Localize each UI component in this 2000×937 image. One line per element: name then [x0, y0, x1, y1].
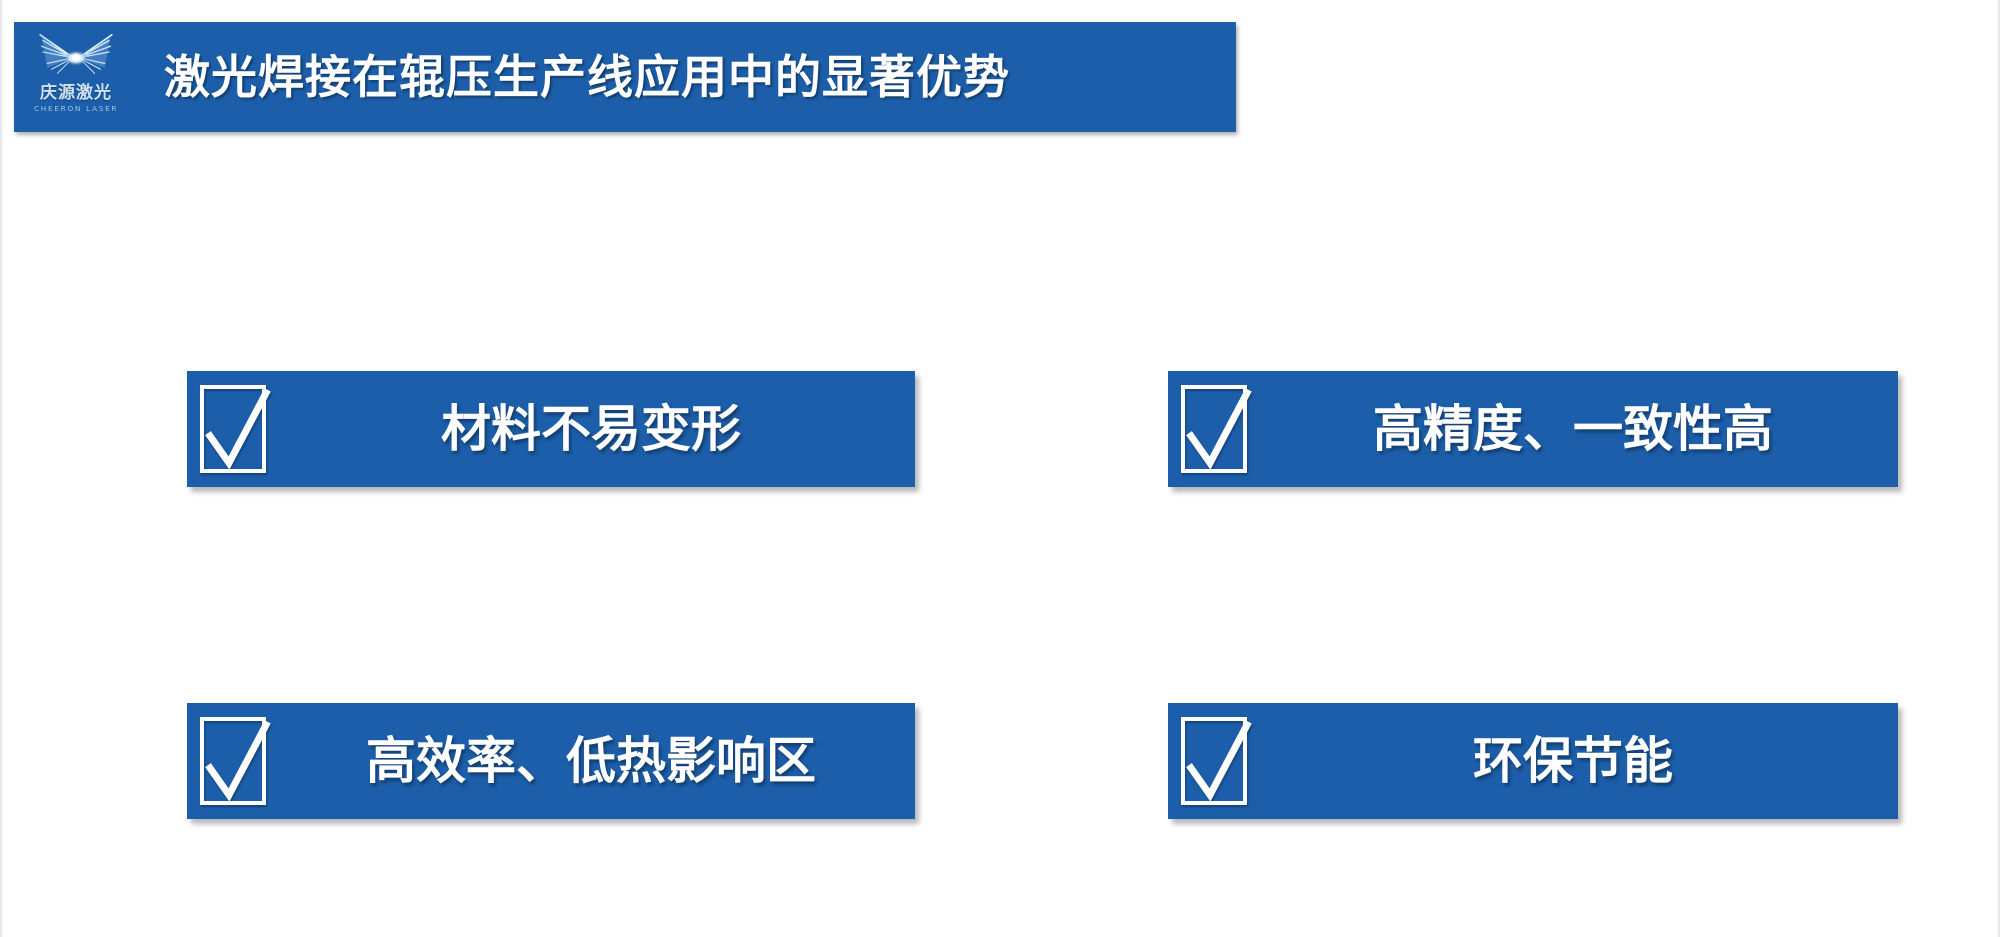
page-title: 激光焊接在辊压生产线应用中的显著优势 — [138, 54, 1236, 100]
checkbox-checked-icon — [187, 371, 283, 487]
feature-card[interactable]: 环保节能 — [1168, 703, 1898, 819]
feature-card-label: 环保节能 — [1264, 736, 1898, 786]
checkbox-checked-glyph — [196, 713, 274, 809]
header-band: 庆源激光 CHEERON LASER 激光焊接在辊压生产线应用中的显著优势 — [14, 22, 1236, 132]
slide-canvas: 庆源激光 CHEERON LASER 激光焊接在辊压生产线应用中的显著优势 材料… — [0, 0, 2000, 937]
checkbox-checked-icon — [1168, 703, 1264, 819]
logo-english-name: CHEERON LASER — [34, 106, 118, 113]
butterfly-wings-laser-logo-icon — [33, 30, 119, 84]
feature-card[interactable]: 高效率、低热影响区 — [187, 703, 915, 819]
feature-card-label: 高效率、低热影响区 — [283, 736, 915, 786]
checkbox-checked-glyph — [1177, 713, 1255, 809]
company-logo: 庆源激光 CHEERON LASER — [14, 22, 138, 132]
checkbox-checked-icon — [187, 703, 283, 819]
logo-chinese-name: 庆源激光 — [40, 85, 112, 102]
feature-card[interactable]: 高精度、一致性高 — [1168, 371, 1898, 487]
feature-card[interactable]: 材料不易变形 — [187, 371, 915, 487]
slide-left-edge-rule — [0, 0, 2, 937]
feature-card-label: 高精度、一致性高 — [1264, 404, 1898, 454]
checkbox-checked-glyph — [196, 381, 274, 477]
checkbox-checked-icon — [1168, 371, 1264, 487]
checkbox-checked-glyph — [1177, 381, 1255, 477]
feature-card-label: 材料不易变形 — [283, 404, 915, 454]
